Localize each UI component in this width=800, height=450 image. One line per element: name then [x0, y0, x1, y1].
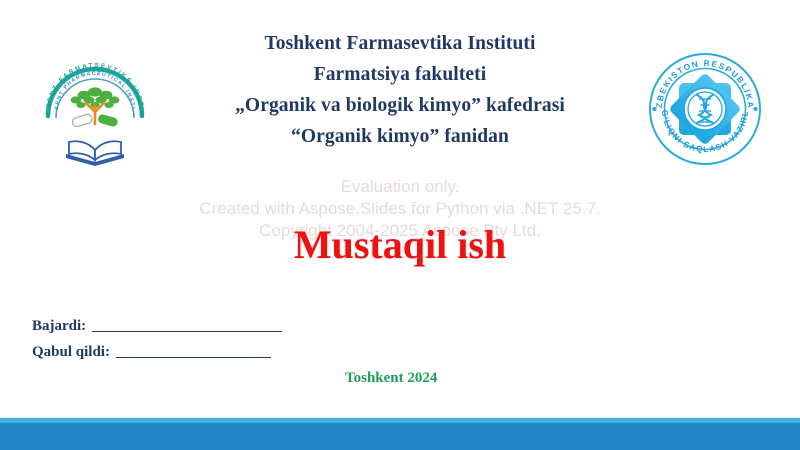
watermark-line-2: Created with Aspose.Slides for Python vi… — [0, 198, 800, 220]
footer-band-dark — [0, 423, 800, 450]
signature-row-accepted-by: Qabul qildi: — [32, 344, 271, 361]
presentation-slide: TOSHKENT FARMATSEVTIKA INSTITUTI TASHKEN… — [0, 0, 800, 450]
signature-label-accepted-by: Qabul qildi: — [32, 344, 110, 361]
signature-rule-performed-by[interactable] — [92, 331, 282, 332]
title-line-faculty: Farmatsiya fakulteti — [160, 59, 640, 90]
slide-title: Toshkent Farmasevtika Instituti Farmatsi… — [160, 28, 640, 152]
uzbekistan-ministry-of-health-logo: O‘ZBEKISTON RESPUBLIKASI SOG‘LIQNI SAQLA… — [646, 50, 764, 168]
city-year-footer: Toshkent 2024 — [345, 370, 437, 387]
tashkent-pharmaceutical-institute-logo: TOSHKENT FARMATSEVTIKA INSTITUTI TASHKEN… — [36, 50, 154, 168]
signature-row-performed-by: Bajardi: — [32, 318, 282, 335]
watermark-line-1: Evaluation only. — [0, 176, 800, 198]
signature-rule-accepted-by[interactable] — [116, 357, 271, 358]
work-type-heading: Mustaqil ish — [0, 222, 800, 268]
signature-label-performed-by: Bajardi: — [32, 318, 86, 335]
title-line-institute: Toshkent Farmasevtika Instituti — [160, 28, 640, 59]
title-line-department: „Organik va biologik kimyo” kafedrasi — [160, 90, 640, 121]
title-line-subject: “Organik kimyo” fanidan — [160, 121, 640, 152]
